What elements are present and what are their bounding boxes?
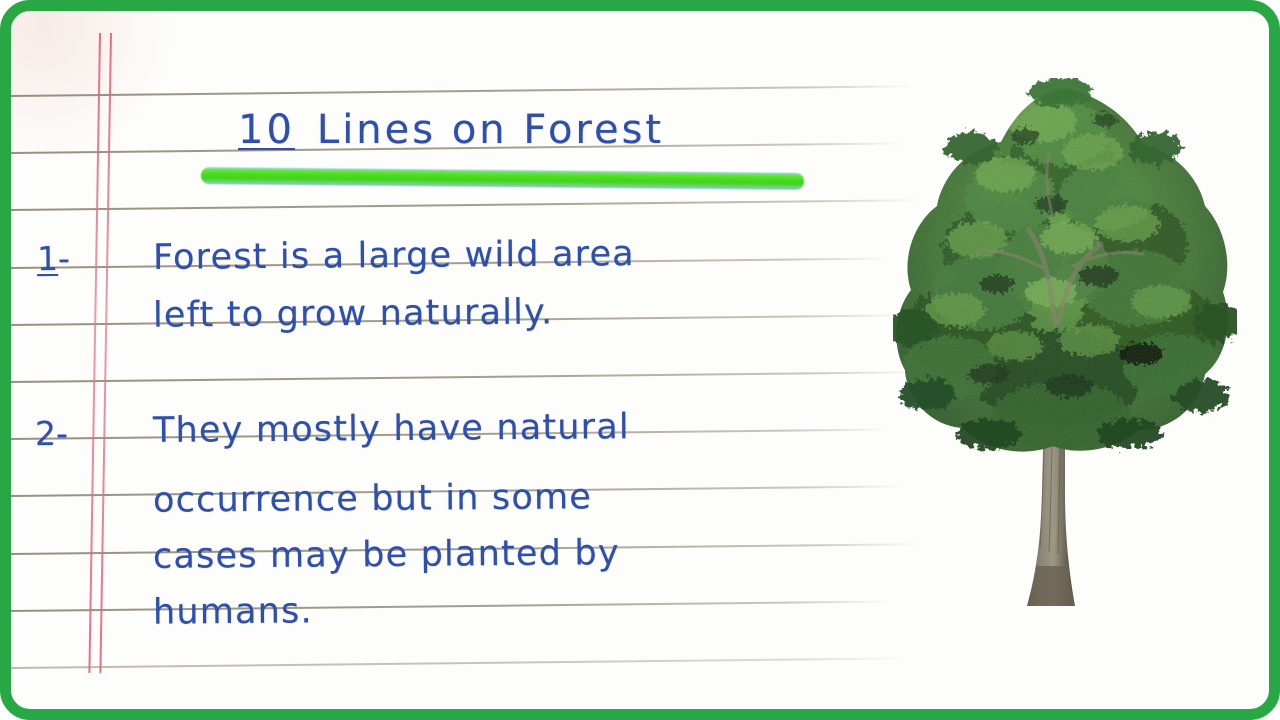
list-marker-2: 2- xyxy=(35,414,68,453)
screenshot-root: 10Lines on Forest 1- Forest is a large w… xyxy=(0,0,1280,720)
point-2-line-2: occurrence but in some xyxy=(153,477,592,520)
ruled-line xyxy=(11,371,919,382)
point-1-line-2: left to grow naturally. xyxy=(153,292,554,335)
ruled-line xyxy=(11,200,919,211)
list-marker-2-digit: 2 xyxy=(35,414,56,453)
point-2-line-1: They mostly have natural xyxy=(153,407,630,451)
point-1-line-1: Forest is a large wild area xyxy=(153,234,635,278)
ruled-line xyxy=(11,657,905,668)
list-marker-1: 1- xyxy=(37,239,70,278)
broadleaf-tree-illustration xyxy=(893,78,1237,623)
list-marker-1-digit: 1 xyxy=(37,239,58,278)
page-title: 10Lines on Forest xyxy=(238,107,664,153)
ruled-line xyxy=(11,600,891,611)
point-2-line-4: humans. xyxy=(153,591,313,632)
list-marker-2-suffix: - xyxy=(56,414,68,453)
page-title-text: Lines on Forest xyxy=(317,107,664,153)
ruled-line xyxy=(11,85,913,96)
tree-canopy xyxy=(893,78,1237,478)
list-marker-1-suffix: - xyxy=(58,239,70,278)
page-title-number: 10 xyxy=(238,107,295,153)
point-2-line-3: cases may be planted by xyxy=(153,533,620,577)
